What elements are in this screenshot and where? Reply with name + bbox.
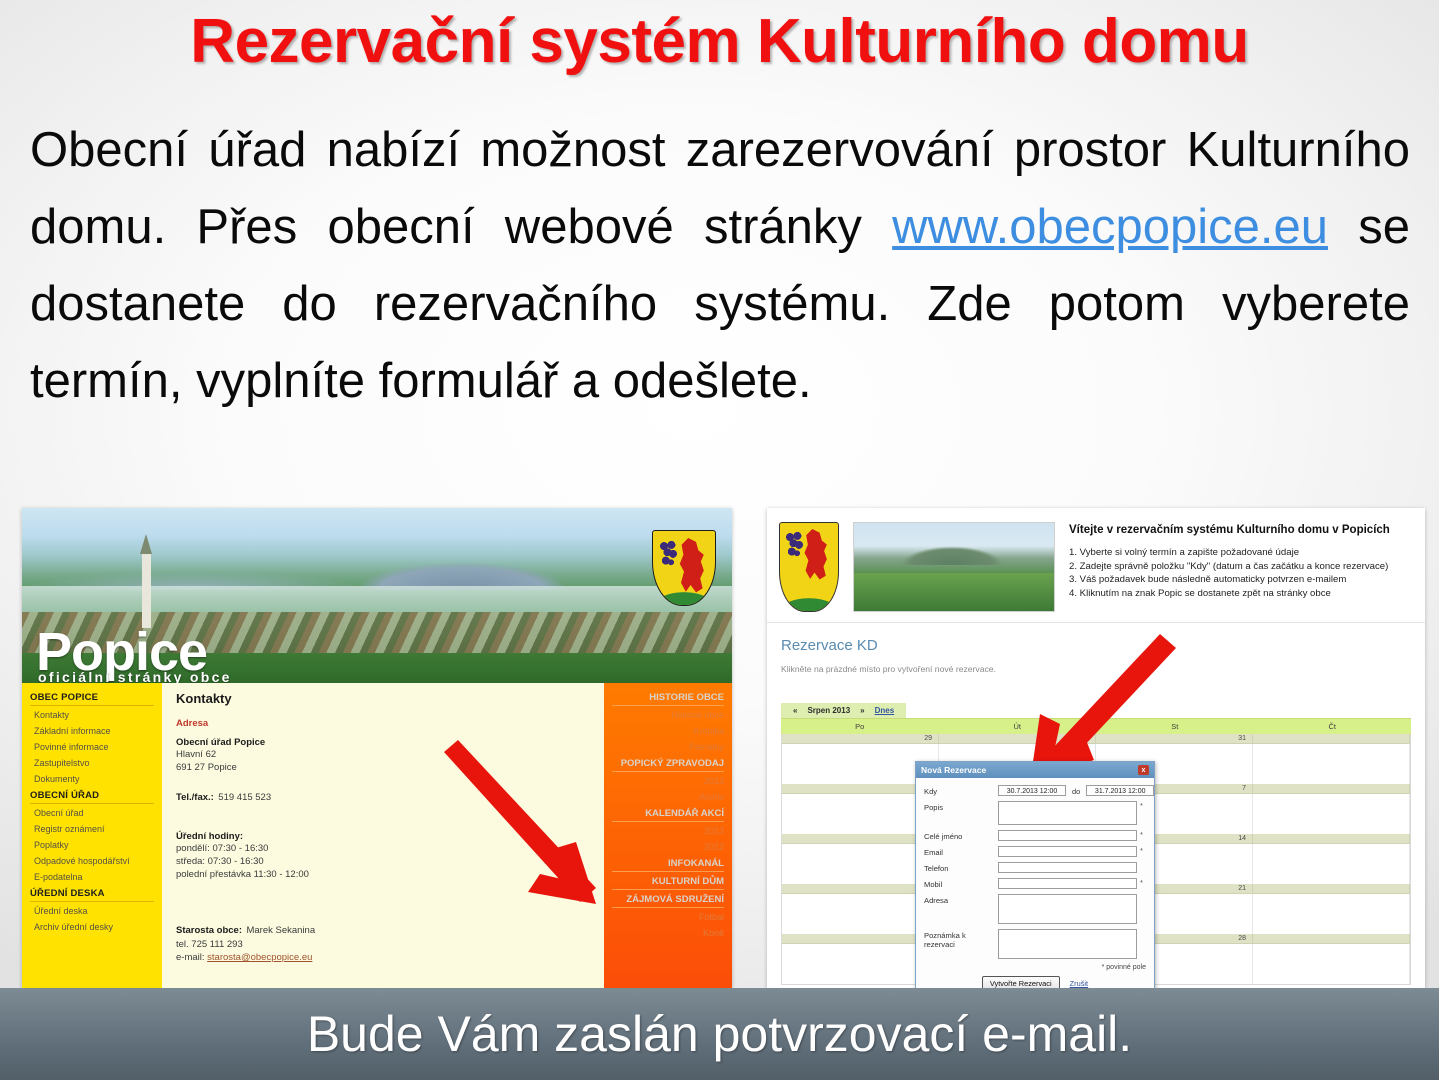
rnav-head-historie: HISTORIE OBCE [612, 689, 724, 706]
mayor-name: Marek Sekanina [246, 925, 315, 936]
hours-lunch-break: polední přestávka 11:30 - 12:00 [176, 868, 590, 881]
office-name: Obecní úřad Popice [176, 737, 590, 748]
coa-green-base [653, 588, 715, 605]
when-label: Kdy [924, 785, 998, 796]
popice-subtitle: oficiální stránky obce [38, 669, 232, 683]
content-section-adresa: Adresa [176, 718, 590, 729]
coat-of-arms-icon[interactable] [652, 530, 716, 606]
welcome-heading: Vítejte v rezervačním systému Kulturního… [1069, 524, 1413, 536]
required-star: * [1137, 878, 1146, 887]
mobile-label: Mobil [924, 878, 998, 889]
calendar-prev-button[interactable]: « [793, 706, 797, 715]
rnav-item-2013-zpr[interactable]: 2013 [612, 773, 724, 789]
address-textarea[interactable] [998, 894, 1137, 924]
content-page-title: Kontakty [176, 691, 590, 706]
reservation-heading: Rezervace KD [781, 637, 1411, 654]
hours-label: Úřední hodiny: [176, 831, 590, 842]
calendar-nav: « Srpen 2013 » Dnes [781, 703, 906, 718]
calendar-slot[interactable] [1253, 894, 1410, 934]
website-body: OBEC POPICE Kontakty Základní informace … [22, 683, 732, 988]
mobile-input[interactable] [998, 878, 1137, 889]
day-header-po: Po [781, 719, 939, 734]
rnav-item-kronika[interactable]: Kronika [612, 723, 724, 739]
calendar-date-cell[interactable]: 31 [1096, 734, 1253, 743]
spacer [176, 881, 590, 894]
calendar-date-cell[interactable]: 30 [939, 734, 1096, 743]
dialog-form: Kdy 30.7.2013 12:00 do 31.7.2013 12:00 P… [916, 778, 1154, 988]
star-placeholder [1137, 929, 1146, 931]
footer-banner: Bude Vám zaslán potvrzovací e-mail. [0, 988, 1439, 1080]
grass-band [854, 573, 1054, 611]
calendar-date-cell[interactable] [1253, 734, 1410, 743]
instruction-step-2: 2. Zadejte správně položku "Kdy" (datum … [1069, 560, 1413, 574]
hours-monday: pondělí: 07:30 - 16:30 [176, 842, 590, 855]
reservation-hint: Klikněte na prázdné místo pro vytvoření … [781, 664, 1411, 674]
required-fields-note: * povinné pole [924, 964, 1146, 971]
instruction-step-4: 4. Kliknutím na znak Popic se dostanete … [1069, 587, 1413, 601]
field-row-when: Kdy 30.7.2013 12:00 do 31.7.2013 12:00 [924, 785, 1146, 796]
phone-input[interactable] [998, 862, 1137, 873]
office-street: Hlavní 62 [176, 748, 590, 761]
close-icon[interactable]: x [1138, 765, 1149, 775]
popice-website-screenshot: Popice oficiální stránky obce OBEC POPIC… [22, 508, 732, 988]
church-tower-icon [142, 552, 151, 628]
mayor-email-row: e-mail: starosta@obecpopice.eu [176, 951, 590, 964]
website-header-banner: Popice oficiální stránky obce [22, 508, 732, 683]
coa-green-base [780, 594, 838, 611]
calendar-slot[interactable] [1253, 744, 1410, 784]
nav-item-uredni-deska[interactable]: Úřední deska [30, 903, 154, 919]
reservation-page: Vítejte v rezervačním systému Kulturního… [767, 508, 1425, 988]
calendar-slot[interactable] [1253, 794, 1410, 834]
when-to-input[interactable]: 31.7.2013 12:00 [1086, 785, 1154, 796]
nav-item-poplatky[interactable]: Poplatky [30, 837, 154, 853]
nav-head-obecni-urad: OBECNÍ ÚŘAD [30, 787, 154, 804]
fullname-input[interactable] [998, 830, 1137, 841]
rnav-head-zpravodaj: POPICKÝ ZPRAVODAJ [612, 755, 724, 772]
create-reservation-button[interactable]: Vytvořte Rezervaci [982, 976, 1060, 988]
field-row-description: Popis * [924, 801, 1146, 825]
address-label: Adresa [924, 894, 998, 905]
rnav-item-archiv[interactable]: Archiv [612, 789, 724, 805]
fullname-label: Celé jméno [924, 830, 998, 841]
field-row-mobile: Mobil * [924, 878, 1146, 889]
nav-item-dokumenty[interactable]: Dokumenty [30, 771, 154, 787]
field-row-fullname: Celé jméno * [924, 830, 1146, 841]
field-row-email: Email * [924, 846, 1146, 857]
nav-head-obec-popice: OBEC POPICE [30, 689, 154, 706]
when-separator-label: do [1066, 785, 1086, 796]
rnav-item-2012-kal[interactable]: 2012 [612, 839, 724, 855]
hill-silhouette [22, 534, 732, 590]
page-title: Rezervační systém Kulturního domu [0, 6, 1439, 78]
reservation-coat-of-arms-icon[interactable] [779, 522, 839, 612]
instructions-block: Vítejte v rezervačním systému Kulturního… [1069, 522, 1413, 600]
coa-grapes-icon [659, 541, 679, 569]
field-row-note: Poznámka k rezervaci [924, 929, 1146, 959]
nav-head-uredni-deska: ÚŘEDNÍ DESKA [30, 885, 154, 902]
office-city: 691 27 Popice [176, 761, 590, 774]
star-placeholder [1137, 862, 1146, 864]
office-phone-row: Tel./fax.: 519 415 523 [176, 787, 590, 805]
calendar-date-cell[interactable] [1253, 834, 1410, 843]
new-reservation-dialog: Nová Rezervace x Kdy 30.7.2013 12:00 do … [915, 761, 1155, 988]
when-from-input[interactable]: 30.7.2013 12:00 [998, 785, 1066, 796]
description-textarea[interactable] [998, 801, 1137, 825]
calendar-slot[interactable] [1253, 844, 1410, 884]
reservation-system-screenshot: Vítejte v rezervačním systému Kulturního… [767, 508, 1425, 988]
mayor-label: Starosta obce: [176, 925, 242, 936]
day-header-ut: Út [939, 719, 1097, 734]
instruction-step-3: 3. Váš požadavek bude následně automatic… [1069, 573, 1413, 587]
nav-item-kontakty[interactable]: Kontakty [30, 707, 154, 723]
star-placeholder [1137, 894, 1146, 896]
obecpopice-link[interactable]: www.obecpopice.eu [892, 200, 1328, 254]
village-photo [853, 522, 1055, 612]
rnav-head-kalendar: KALENDÁŘ AKCÍ [612, 805, 724, 822]
required-star: * [1137, 801, 1146, 810]
mayor-phone: tel. 725 111 293 [176, 938, 590, 951]
reservation-header: Vítejte v rezervačním systému Kulturního… [767, 508, 1425, 623]
body-paragraph: Obecní úřad nabízí možnost zarezervování… [30, 112, 1410, 420]
note-textarea[interactable] [998, 929, 1137, 959]
description-label: Popis [924, 801, 998, 812]
spacer [176, 818, 590, 831]
phone-label: Telefon [924, 862, 998, 873]
calendar-date-cell[interactable] [1253, 784, 1410, 793]
spacer [176, 894, 590, 907]
footer-text: Bude Vám zaslán potvrzovací e-mail. [307, 1005, 1132, 1063]
calendar-date-strip: 29 30 31 [782, 734, 1410, 744]
calendar-date-cell[interactable] [1253, 884, 1410, 893]
required-star: * [1137, 846, 1146, 855]
required-star: * [1137, 830, 1146, 839]
phone-label: Tel./fax.: [176, 792, 214, 803]
hours-wednesday: středa: 07:30 - 16:30 [176, 855, 590, 868]
rnav-head-kulturni-dum[interactable]: KULTURNÍ DŮM [612, 873, 724, 890]
coa-lion-icon [675, 538, 705, 594]
instruction-step-1: 1. Vyberte si volný termín a zapište pož… [1069, 546, 1413, 560]
calendar-next-button[interactable]: » [860, 706, 864, 715]
spacer [176, 907, 590, 920]
hill-silhouette [890, 537, 1014, 565]
rnav-head-zajmova[interactable]: ZÁJMOVÁ SDRUŽENÍ [612, 891, 724, 908]
dialog-title-label: Nová Rezervace [921, 765, 986, 775]
phone-value: 519 415 523 [218, 792, 271, 803]
mayor-row: Starosta obce: Marek Sekanina [176, 920, 590, 938]
field-row-phone: Telefon [924, 862, 1146, 873]
email-input[interactable] [998, 846, 1137, 857]
nav-item-odpadove[interactable]: Odpadové hospodářství [30, 853, 154, 869]
right-sidebar-nav: HISTORIE OBCE Historie obce Kronika Pamá… [604, 683, 732, 988]
calendar-slot[interactable] [1253, 944, 1410, 984]
field-band [22, 586, 732, 612]
note-label: Poznámka k rezervaci [924, 929, 998, 949]
mayor-email-label: e-mail: [176, 952, 205, 963]
rnav-item-2013-kal[interactable]: 2013 [612, 823, 724, 839]
field-row-address: Adresa [924, 894, 1146, 924]
nav-item-obecni-urad[interactable]: Obecní úřad [30, 805, 154, 821]
calendar-day-headers: Po Út St Čt [781, 718, 1411, 734]
rnav-item-pamatky[interactable]: Památky [612, 739, 724, 755]
nav-item-zastupitelstvo[interactable]: Zastupitelstvo [30, 755, 154, 771]
nav-item-zakladni-info[interactable]: Základní informace [30, 723, 154, 739]
nav-item-povinne-info[interactable]: Povinné informace [30, 739, 154, 755]
slide-root: Rezervační systém Kulturního domu Obecní… [0, 0, 1439, 1080]
dialog-actions: Vytvořte Rezervaci Zrušit [924, 976, 1146, 988]
rnav-item-historie[interactable]: Historie obce [612, 707, 724, 723]
day-header-st: St [1096, 719, 1254, 734]
spacer [176, 774, 590, 787]
left-sidebar-nav: OBEC POPICE Kontakty Základní informace … [22, 683, 162, 988]
nav-item-archiv-desky[interactable]: Archiv úřední desky [30, 919, 154, 935]
mayor-email-link[interactable]: starosta@obecpopice.eu [207, 952, 312, 963]
calendar-date-cell[interactable] [1253, 934, 1410, 943]
calendar-month-label: Srpen 2013 [807, 706, 850, 715]
dialog-titlebar: Nová Rezervace x [916, 762, 1154, 778]
nav-item-registr[interactable]: Registr oznámení [30, 821, 154, 837]
cancel-button[interactable]: Zrušit [1070, 979, 1088, 988]
calendar-date-cell[interactable]: 29 [782, 734, 939, 743]
day-header-ct: Čt [1254, 719, 1412, 734]
email-label: Email [924, 846, 998, 857]
coa-grapes-icon [785, 532, 805, 560]
rnav-item-kone[interactable]: Koně [612, 925, 724, 941]
website-content-area: Kontakty Adresa Obecní úřad Popice Hlavn… [162, 683, 604, 988]
calendar-today-button[interactable]: Dnes [875, 706, 895, 715]
spacer [176, 805, 590, 818]
rnav-item-fotbal[interactable]: Fotbal [612, 909, 724, 925]
rnav-head-infokanal[interactable]: INFOKANÁL [612, 855, 724, 872]
nav-item-e-podatelna[interactable]: E-podatelna [30, 869, 154, 885]
